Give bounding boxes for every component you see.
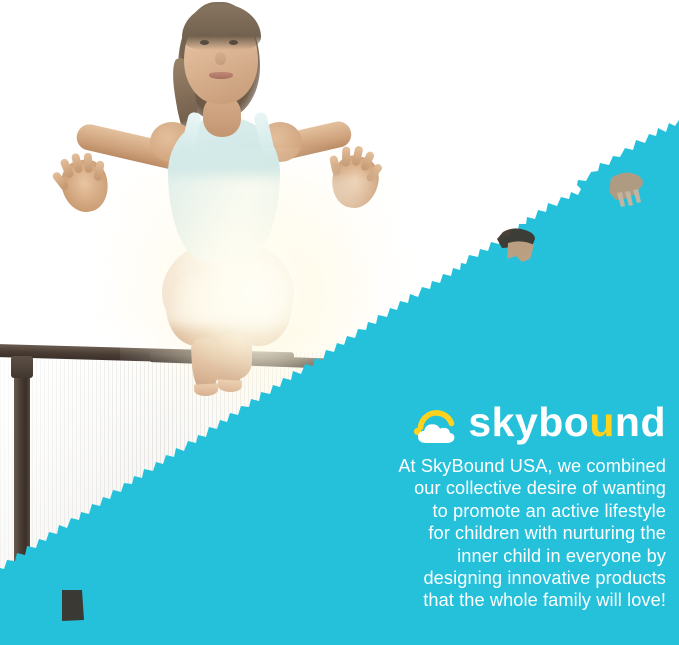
girl-figure — [0, 0, 420, 420]
tagline-line: to promote an active lifestyle — [268, 500, 666, 522]
hair-top — [182, 4, 261, 50]
skybound-logo: skybound — [268, 398, 666, 446]
wordmark-suffix: nd — [615, 399, 666, 445]
tagline-paragraph: At SkyBound USA, we combined our collect… — [268, 455, 666, 612]
mouth — [209, 72, 233, 79]
tagline-line: our collective desire of wanting — [268, 477, 666, 499]
sun-cloud-icon — [411, 400, 461, 444]
hand-right — [327, 152, 383, 212]
tagline-line: designing innovative products — [268, 567, 666, 589]
brand-content: skybound At SkyBound USA, we combined ou… — [268, 398, 666, 612]
eye-left — [200, 40, 209, 45]
eye-right — [229, 40, 238, 45]
tagline-line: inner child in everyone by — [268, 545, 666, 567]
tagline-line: At SkyBound USA, we combined — [268, 455, 666, 477]
toes — [217, 379, 242, 392]
skybound-wordmark: skybound — [468, 402, 666, 443]
toes — [194, 383, 219, 396]
finger — [329, 155, 341, 176]
finger — [93, 160, 104, 181]
tagline-line: for children with nurturing the — [268, 522, 666, 544]
nose — [215, 52, 226, 65]
tagline-line: that the whole family will love! — [268, 589, 666, 611]
foot-left — [191, 337, 220, 394]
wordmark-highlight-u: u — [589, 399, 615, 445]
hand-left — [57, 156, 113, 216]
brand-banner: skybound At SkyBound USA, we combined ou… — [0, 0, 679, 645]
wordmark-prefix: skybo — [468, 399, 589, 445]
foot-right — [217, 333, 246, 390]
finger — [342, 146, 351, 166]
finger — [84, 153, 93, 173]
